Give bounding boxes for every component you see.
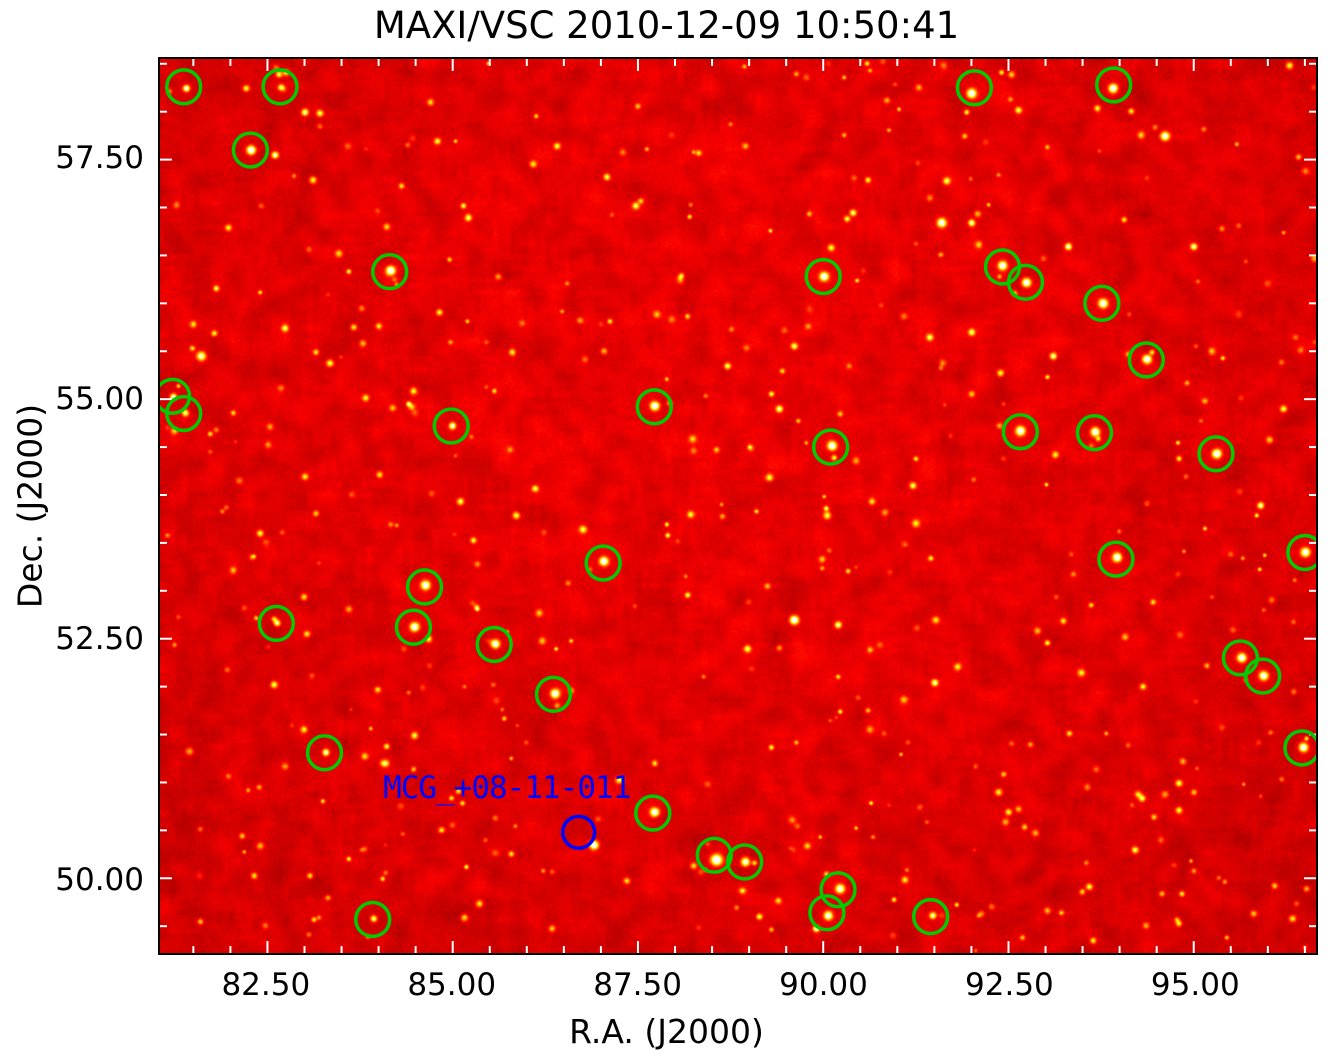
y-tick-label: 57.50 bbox=[0, 140, 144, 176]
detection-circle[interactable] bbox=[1285, 731, 1318, 765]
detection-circle[interactable] bbox=[1099, 542, 1133, 576]
detection-circle[interactable] bbox=[586, 546, 620, 580]
detection-circle[interactable] bbox=[728, 845, 762, 879]
target-label: MCG_+08-11-011 bbox=[383, 770, 630, 806]
target-circle[interactable] bbox=[563, 816, 595, 848]
detection-circle[interactable] bbox=[986, 250, 1020, 284]
chart-title: MAXI/VSC 2010-12-09 10:50:41 bbox=[0, 4, 1333, 47]
tick-marks bbox=[160, 59, 1316, 953]
detection-circle[interactable] bbox=[408, 570, 442, 604]
detection-circle[interactable] bbox=[1199, 437, 1233, 471]
x-axis-title: R.A. (J2000) bbox=[0, 1012, 1333, 1051]
detection-circle[interactable] bbox=[814, 430, 848, 464]
detection-circle[interactable] bbox=[1097, 68, 1131, 102]
x-tick-label: 82.50 bbox=[221, 967, 310, 1003]
detection-circle[interactable] bbox=[1085, 286, 1119, 320]
detection-circle[interactable] bbox=[434, 409, 468, 443]
detection-circle[interactable] bbox=[308, 736, 342, 770]
detection-circle[interactable] bbox=[1077, 416, 1111, 450]
detection-circle[interactable] bbox=[637, 390, 671, 424]
figure-root: MAXI/VSC 2010-12-09 10:50:41 MCG_+08-11-… bbox=[0, 0, 1333, 1061]
detection-circle[interactable] bbox=[396, 610, 430, 644]
detection-circle[interactable] bbox=[263, 70, 297, 104]
y-tick-label: 52.50 bbox=[0, 621, 144, 657]
detection-circle[interactable] bbox=[233, 133, 267, 167]
x-tick-label: 92.50 bbox=[965, 967, 1054, 1003]
detection-circle[interactable] bbox=[914, 900, 948, 934]
detection-circle[interactable] bbox=[1009, 265, 1043, 299]
x-tick-label: 85.00 bbox=[407, 967, 496, 1003]
y-tick-label: 50.00 bbox=[0, 862, 144, 898]
detection-circle[interactable] bbox=[806, 260, 840, 294]
detection-circle[interactable] bbox=[537, 677, 571, 711]
detection-circle[interactable] bbox=[259, 606, 293, 640]
detection-circle[interactable] bbox=[957, 71, 991, 105]
marker-overlay bbox=[160, 59, 1316, 953]
y-axis-title: Dec. (J2000) bbox=[11, 404, 50, 608]
detection-circle[interactable] bbox=[477, 628, 511, 662]
x-tick-label: 95.00 bbox=[1151, 967, 1240, 1003]
detection-circle[interactable] bbox=[1129, 343, 1163, 377]
detection-circle[interactable] bbox=[636, 796, 670, 830]
detection-circle[interactable] bbox=[167, 70, 201, 104]
target-annotations bbox=[563, 816, 595, 848]
detection-circle[interactable] bbox=[697, 838, 731, 872]
sky-image-plot[interactable]: MCG_+08-11-011 bbox=[158, 57, 1318, 955]
detection-circles bbox=[158, 68, 1318, 936]
detection-circle[interactable] bbox=[1003, 415, 1037, 449]
detection-circle[interactable] bbox=[1223, 641, 1257, 675]
detection-circle[interactable] bbox=[1246, 659, 1280, 693]
detection-circle[interactable] bbox=[1288, 536, 1318, 570]
x-tick-label: 87.50 bbox=[593, 967, 682, 1003]
detection-circle[interactable] bbox=[373, 255, 407, 289]
detection-circle[interactable] bbox=[356, 903, 390, 937]
x-tick-label: 90.00 bbox=[779, 967, 868, 1003]
